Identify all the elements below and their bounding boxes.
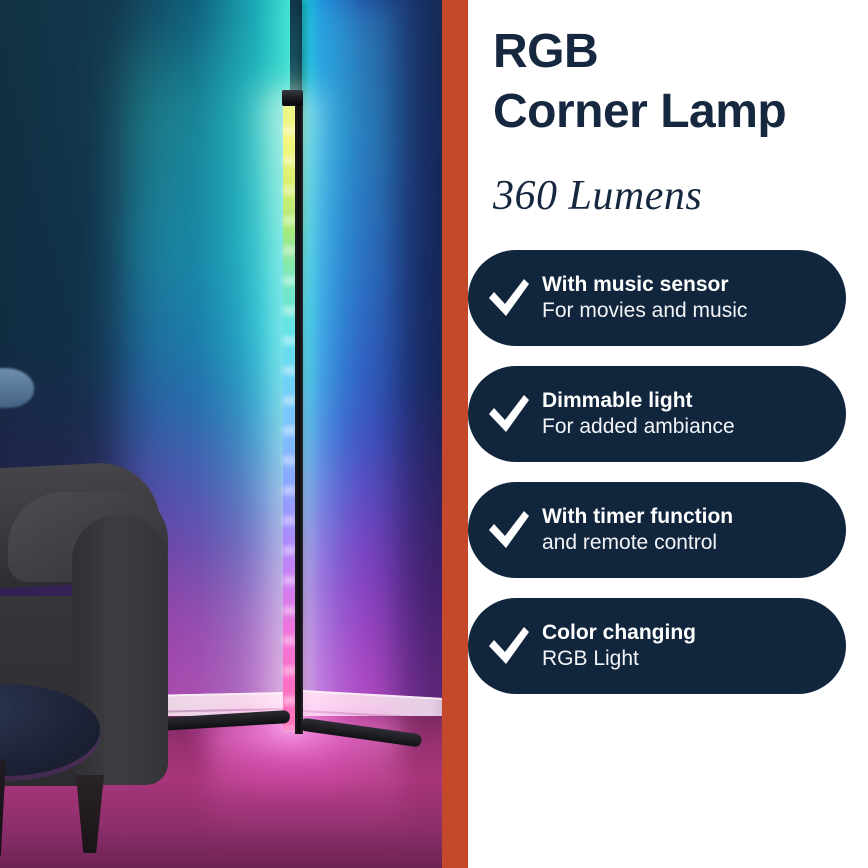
lamp-body [295, 92, 303, 734]
feature-title: With music sensor [542, 272, 832, 298]
subheadline: 360 Lumens [493, 172, 702, 220]
feature-card-dimmable-light: Dimmable light For added ambiance [468, 366, 846, 462]
check-icon [468, 624, 542, 668]
page-title: RGB Corner Lamp [493, 22, 863, 143]
check-icon [468, 508, 542, 552]
info-panel: RGB Corner Lamp 360 Lumens With music se… [468, 0, 868, 868]
feature-subtitle: For added ambiance [542, 414, 832, 440]
feature-card-text: With timer function and remote control [542, 504, 846, 556]
feature-subtitle: and remote control [542, 530, 832, 556]
feature-title: Color changing [542, 620, 832, 646]
feature-card-color-changing: Color changing RGB Light [468, 598, 846, 694]
headline-line-2: Corner Lamp [493, 82, 863, 142]
headline-line-1: RGB [493, 22, 863, 82]
feature-list: With music sensor For movies and music D… [468, 250, 868, 714]
product-photo [0, 0, 442, 868]
feature-card-text: With music sensor For movies and music [542, 272, 846, 324]
feature-title: With timer function [542, 504, 832, 530]
feature-title: Dimmable light [542, 388, 832, 414]
product-marketing-image: RGB Corner Lamp 360 Lumens With music se… [0, 0, 868, 868]
feature-card-text: Dimmable light For added ambiance [542, 388, 846, 440]
feature-card-timer-function: With timer function and remote control [468, 482, 846, 578]
check-icon [468, 392, 542, 436]
lamp-top-cap [282, 90, 303, 106]
feature-subtitle: RGB Light [542, 646, 832, 672]
check-icon [468, 276, 542, 320]
orange-divider [442, 0, 468, 868]
feature-card-text: Color changing RGB Light [542, 620, 846, 672]
feature-subtitle: For movies and music [542, 298, 832, 324]
feature-card-music-sensor: With music sensor For movies and music [468, 250, 846, 346]
